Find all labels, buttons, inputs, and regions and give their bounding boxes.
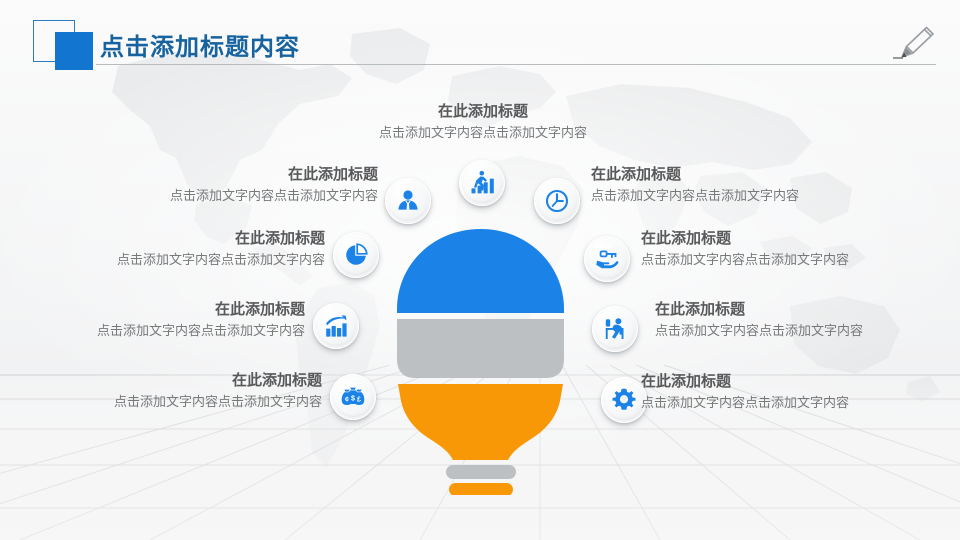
item-subtext: 点击添加文字内容点击添加文字内容 [591, 187, 911, 205]
title-decor-solid-square [55, 32, 93, 70]
item-heading: 在此添加标题 [2, 300, 305, 320]
svg-text:$: $ [351, 395, 355, 402]
item-heading: 在此添加标题 [655, 300, 960, 320]
icon-badge-clock[interactable] [534, 178, 580, 224]
money-bags-icon: ¢ $ £ [340, 384, 366, 410]
bar-chart-growth-icon [323, 313, 349, 339]
text-block-left-4: 在此添加标题 点击添加文字内容点击添加文字内容 [19, 371, 322, 411]
text-block-left-1: 在此添加标题 点击添加文字内容点击添加文字内容 [75, 165, 378, 205]
hand-key-icon [594, 246, 620, 272]
svg-text:¢: ¢ [345, 397, 349, 404]
item-subtext: 点击添加文字内容点击添加文字内容 [75, 187, 378, 205]
icon-badge-businessperson[interactable] [385, 178, 431, 224]
text-block-left-3: 在此添加标题 点击添加文字内容点击添加文字内容 [2, 300, 305, 340]
text-block-left-2: 在此添加标题 点击添加文字内容点击添加文字内容 [22, 229, 325, 269]
item-heading: 在此添加标题 [19, 371, 322, 391]
text-block-top-center: 在此添加标题 点击添加文字内容点击添加文字内容 [333, 102, 633, 142]
item-subtext: 点击添加文字内容点击添加文字内容 [2, 322, 305, 340]
item-subtext: 点击添加文字内容点击添加文字内容 [22, 251, 325, 269]
item-heading: 在此添加标题 [641, 229, 960, 249]
businessperson-icon [395, 188, 421, 214]
item-heading: 在此添加标题 [641, 372, 960, 392]
svg-text:£: £ [357, 397, 361, 404]
icon-badge-person-desk[interactable] [592, 306, 638, 352]
icon-badge-hand-key[interactable] [584, 236, 630, 282]
text-block-right-3: 在此添加标题 点击添加文字内容点击添加文字内容 [655, 300, 960, 340]
pie-chart-icon [343, 242, 369, 268]
gear-icon [611, 387, 637, 413]
slide-canvas: 点击添加标题内容 [0, 0, 960, 540]
clock-icon [544, 188, 570, 214]
slide-header: 点击添加标题内容 [0, 0, 960, 80]
item-heading: 在此添加标题 [333, 102, 633, 122]
text-block-right-4: 在此添加标题 点击添加文字内容点击添加文字内容 [641, 372, 960, 412]
pencil-icon[interactable] [893, 22, 937, 66]
icon-badge-pie-chart[interactable] [333, 232, 379, 278]
title-underline [96, 64, 936, 65]
icon-badge-money-bags[interactable]: ¢ $ £ [330, 374, 376, 420]
page-title: 点击添加标题内容 [100, 27, 300, 62]
text-block-right-1: 在此添加标题 点击添加文字内容点击添加文字内容 [591, 165, 911, 205]
item-subtext: 点击添加文字内容点击添加文字内容 [641, 251, 960, 269]
text-block-right-2: 在此添加标题 点击添加文字内容点击添加文字内容 [641, 229, 960, 269]
growth-runner-icon [469, 170, 495, 196]
item-heading: 在此添加标题 [591, 165, 911, 185]
item-subtext: 点击添加文字内容点击添加文字内容 [333, 124, 633, 142]
item-heading: 在此添加标题 [75, 165, 378, 185]
lightbulb-graphic [388, 225, 573, 495]
item-heading: 在此添加标题 [22, 229, 325, 249]
item-subtext: 点击添加文字内容点击添加文字内容 [655, 322, 960, 340]
icon-badge-growth-runner[interactable] [459, 160, 505, 206]
person-desk-icon [602, 316, 628, 342]
item-subtext: 点击添加文字内容点击添加文字内容 [641, 394, 960, 412]
icon-badge-bar-chart-growth[interactable] [313, 303, 359, 349]
item-subtext: 点击添加文字内容点击添加文字内容 [19, 393, 322, 411]
